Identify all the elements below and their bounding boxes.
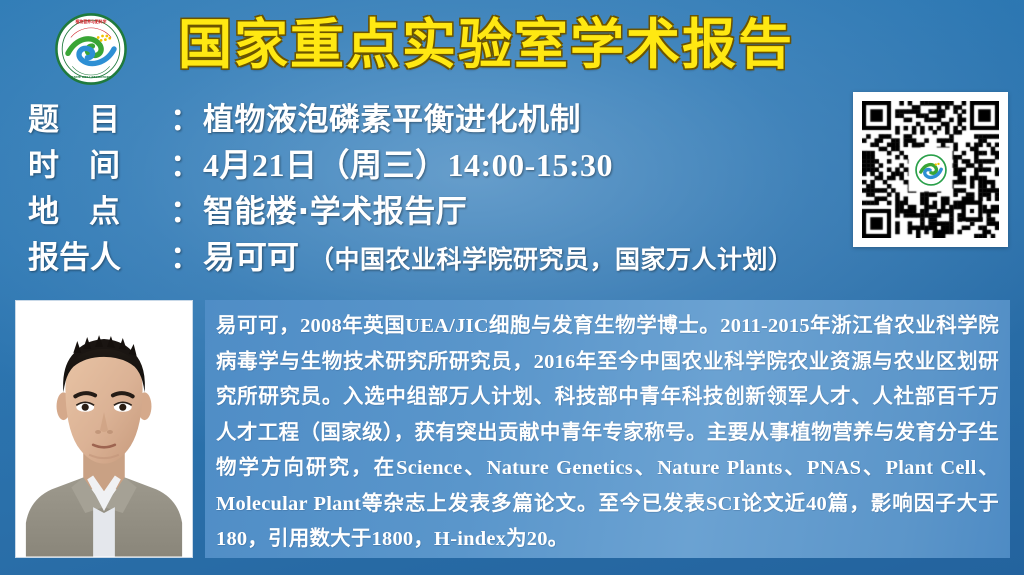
- page-title: 国家重点实验室学术报告: [178, 11, 858, 79]
- poster-header: 植物营养与肥料学 STATE KEY LABORATORY 国家重点实验室学术报…: [0, 0, 1024, 88]
- qr-center-logo-icon: [911, 150, 951, 190]
- info-row-location: 地点 ： 智能楼·学术报告厅: [28, 186, 858, 232]
- speaker-colon: ：: [170, 232, 201, 277]
- time-value: 4月21日（周三）14:00-15:30: [203, 140, 613, 186]
- speaker-bio-text: 易可可，2008年英国UEA/JIC细胞与发育生物学博士。2011-2015年浙…: [216, 309, 999, 558]
- speaker-label: 报告人: [28, 232, 170, 277]
- info-row-speaker: 报告人 ： 易可可 （中国农业科学院研究员，国家万人计划）: [28, 232, 858, 278]
- topic-colon: ：: [170, 94, 201, 139]
- speaker-name: 易可可: [203, 232, 299, 278]
- state-key-laboratory-logo-icon: 植物营养与肥料学 STATE KEY LABORATORY: [55, 13, 127, 85]
- event-info-block: 题目 ： 植物液泡磷素平衡进化机制 时间 ： 4月21日（周三）14:00-15…: [28, 94, 858, 278]
- topic-label: 题目: [28, 94, 170, 139]
- qr-code[interactable]: [853, 92, 1008, 247]
- speaker-bio-panel: 易可可，2008年英国UEA/JIC细胞与发育生物学博士。2011-2015年浙…: [205, 300, 1010, 558]
- topic-value: 植物液泡磷素平衡进化机制: [203, 94, 581, 139]
- time-label: 时间: [28, 140, 170, 185]
- info-row-time: 时间 ： 4月21日（周三）14:00-15:30: [28, 140, 858, 186]
- time-colon: ：: [170, 140, 201, 185]
- speaker-affiliation: （中国农业科学院研究员，国家万人计划）: [309, 240, 794, 276]
- location-label: 地点: [28, 186, 170, 231]
- info-row-topic: 题目 ： 植物液泡磷素平衡进化机制: [28, 94, 858, 140]
- svg-text:植物营养与肥料学: 植物营养与肥料学: [74, 19, 106, 24]
- seminar-poster: 植物营养与肥料学 STATE KEY LABORATORY 国家重点实验室学术报…: [0, 0, 1024, 575]
- speaker-portrait: [15, 300, 193, 558]
- location-value: 智能楼·学术报告厅: [203, 186, 467, 231]
- location-colon: ：: [170, 186, 201, 231]
- svg-text:STATE KEY LABORATORY: STATE KEY LABORATORY: [71, 75, 111, 79]
